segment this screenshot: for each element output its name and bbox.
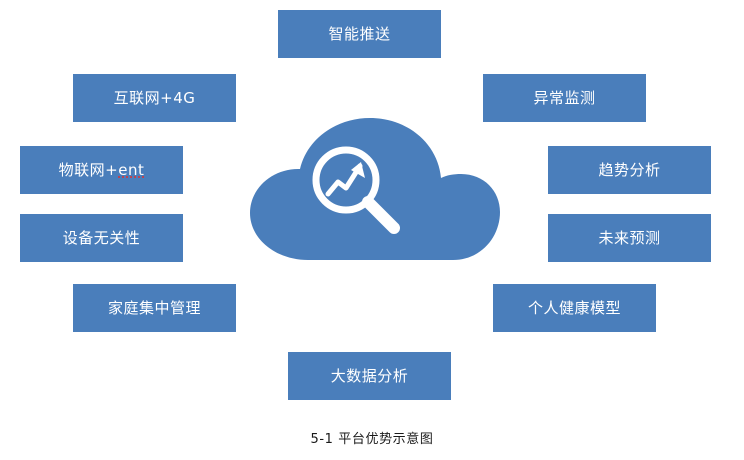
node-smart-push[interactable]: 智能推送 (278, 10, 441, 58)
node-big-data-analysis[interactable]: 大数据分析 (288, 352, 451, 400)
node-label: 互联网+4G (114, 91, 196, 106)
node-device-agnostic[interactable]: 设备无关性 (20, 214, 183, 262)
node-internet-4g[interactable]: 互联网+4G (73, 74, 236, 122)
node-future-forecast[interactable]: 未来预测 (548, 214, 711, 262)
node-label-misspelled-suffix: ent (118, 163, 144, 178)
figure-caption: 5-1 平台优势示意图 (0, 428, 744, 447)
node-label: 趋势分析 (598, 163, 660, 178)
node-anomaly-monitor[interactable]: 异常监测 (483, 74, 646, 122)
node-label: 异常监测 (533, 91, 595, 106)
node-label: 智能推送 (328, 27, 390, 42)
node-home-central-management[interactable]: 家庭集中管理 (73, 284, 236, 332)
node-label: 物联网+ (59, 163, 119, 178)
node-trend-analysis[interactable]: 趋势分析 (548, 146, 711, 194)
node-label: 个人健康模型 (528, 301, 621, 316)
cloud-with-magnifier-trend-icon (228, 112, 508, 272)
node-label: 家庭集中管理 (108, 301, 201, 316)
diagram-canvas: 智能推送 互联网+4G 异常监测 物联网+ent 趋势分析 设备无关性 未来预测… (0, 0, 744, 460)
node-label: 设备无关性 (63, 231, 141, 246)
node-iot-ent[interactable]: 物联网+ent (20, 146, 183, 194)
node-label: 大数据分析 (331, 369, 409, 384)
node-personal-health-model[interactable]: 个人健康模型 (493, 284, 656, 332)
node-label: 未来预测 (598, 231, 660, 246)
